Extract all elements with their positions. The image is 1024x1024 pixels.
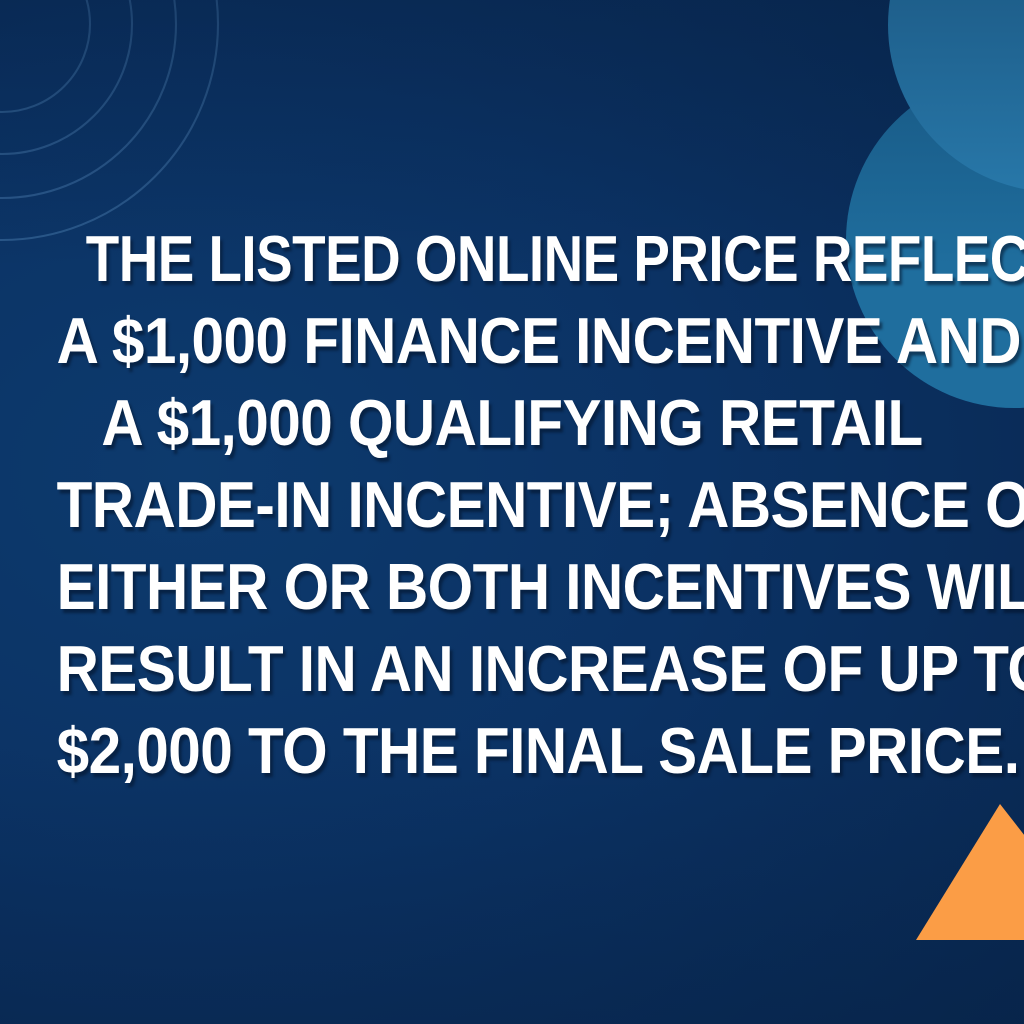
promo-disclaimer-canvas: THE LISTED ONLINE PRICE REFLECTS A $1,00… bbox=[0, 0, 1024, 1024]
disclaimer-line-4: TRADE-IN INCENTIVE; ABSENCE OF bbox=[57, 464, 968, 546]
disclaimer-text-block: THE LISTED ONLINE PRICE REFLECTS A $1,00… bbox=[51, 218, 973, 792]
disclaimer-line-1: THE LISTED ONLINE PRICE REFLECTS bbox=[86, 218, 938, 300]
disclaimer-line-3: A $1,000 QUALIFYING RETAIL bbox=[57, 382, 968, 464]
disclaimer-line-2: A $1,000 FINANCE INCENTIVE AND bbox=[57, 300, 968, 382]
disclaimer-line-6: RESULT IN AN INCREASE OF UP TO bbox=[57, 628, 968, 710]
disclaimer-line-5: EITHER OR BOTH INCENTIVES WILL bbox=[57, 546, 968, 628]
disclaimer-line-7: $2,000 TO THE FINAL SALE PRICE. bbox=[57, 710, 968, 792]
